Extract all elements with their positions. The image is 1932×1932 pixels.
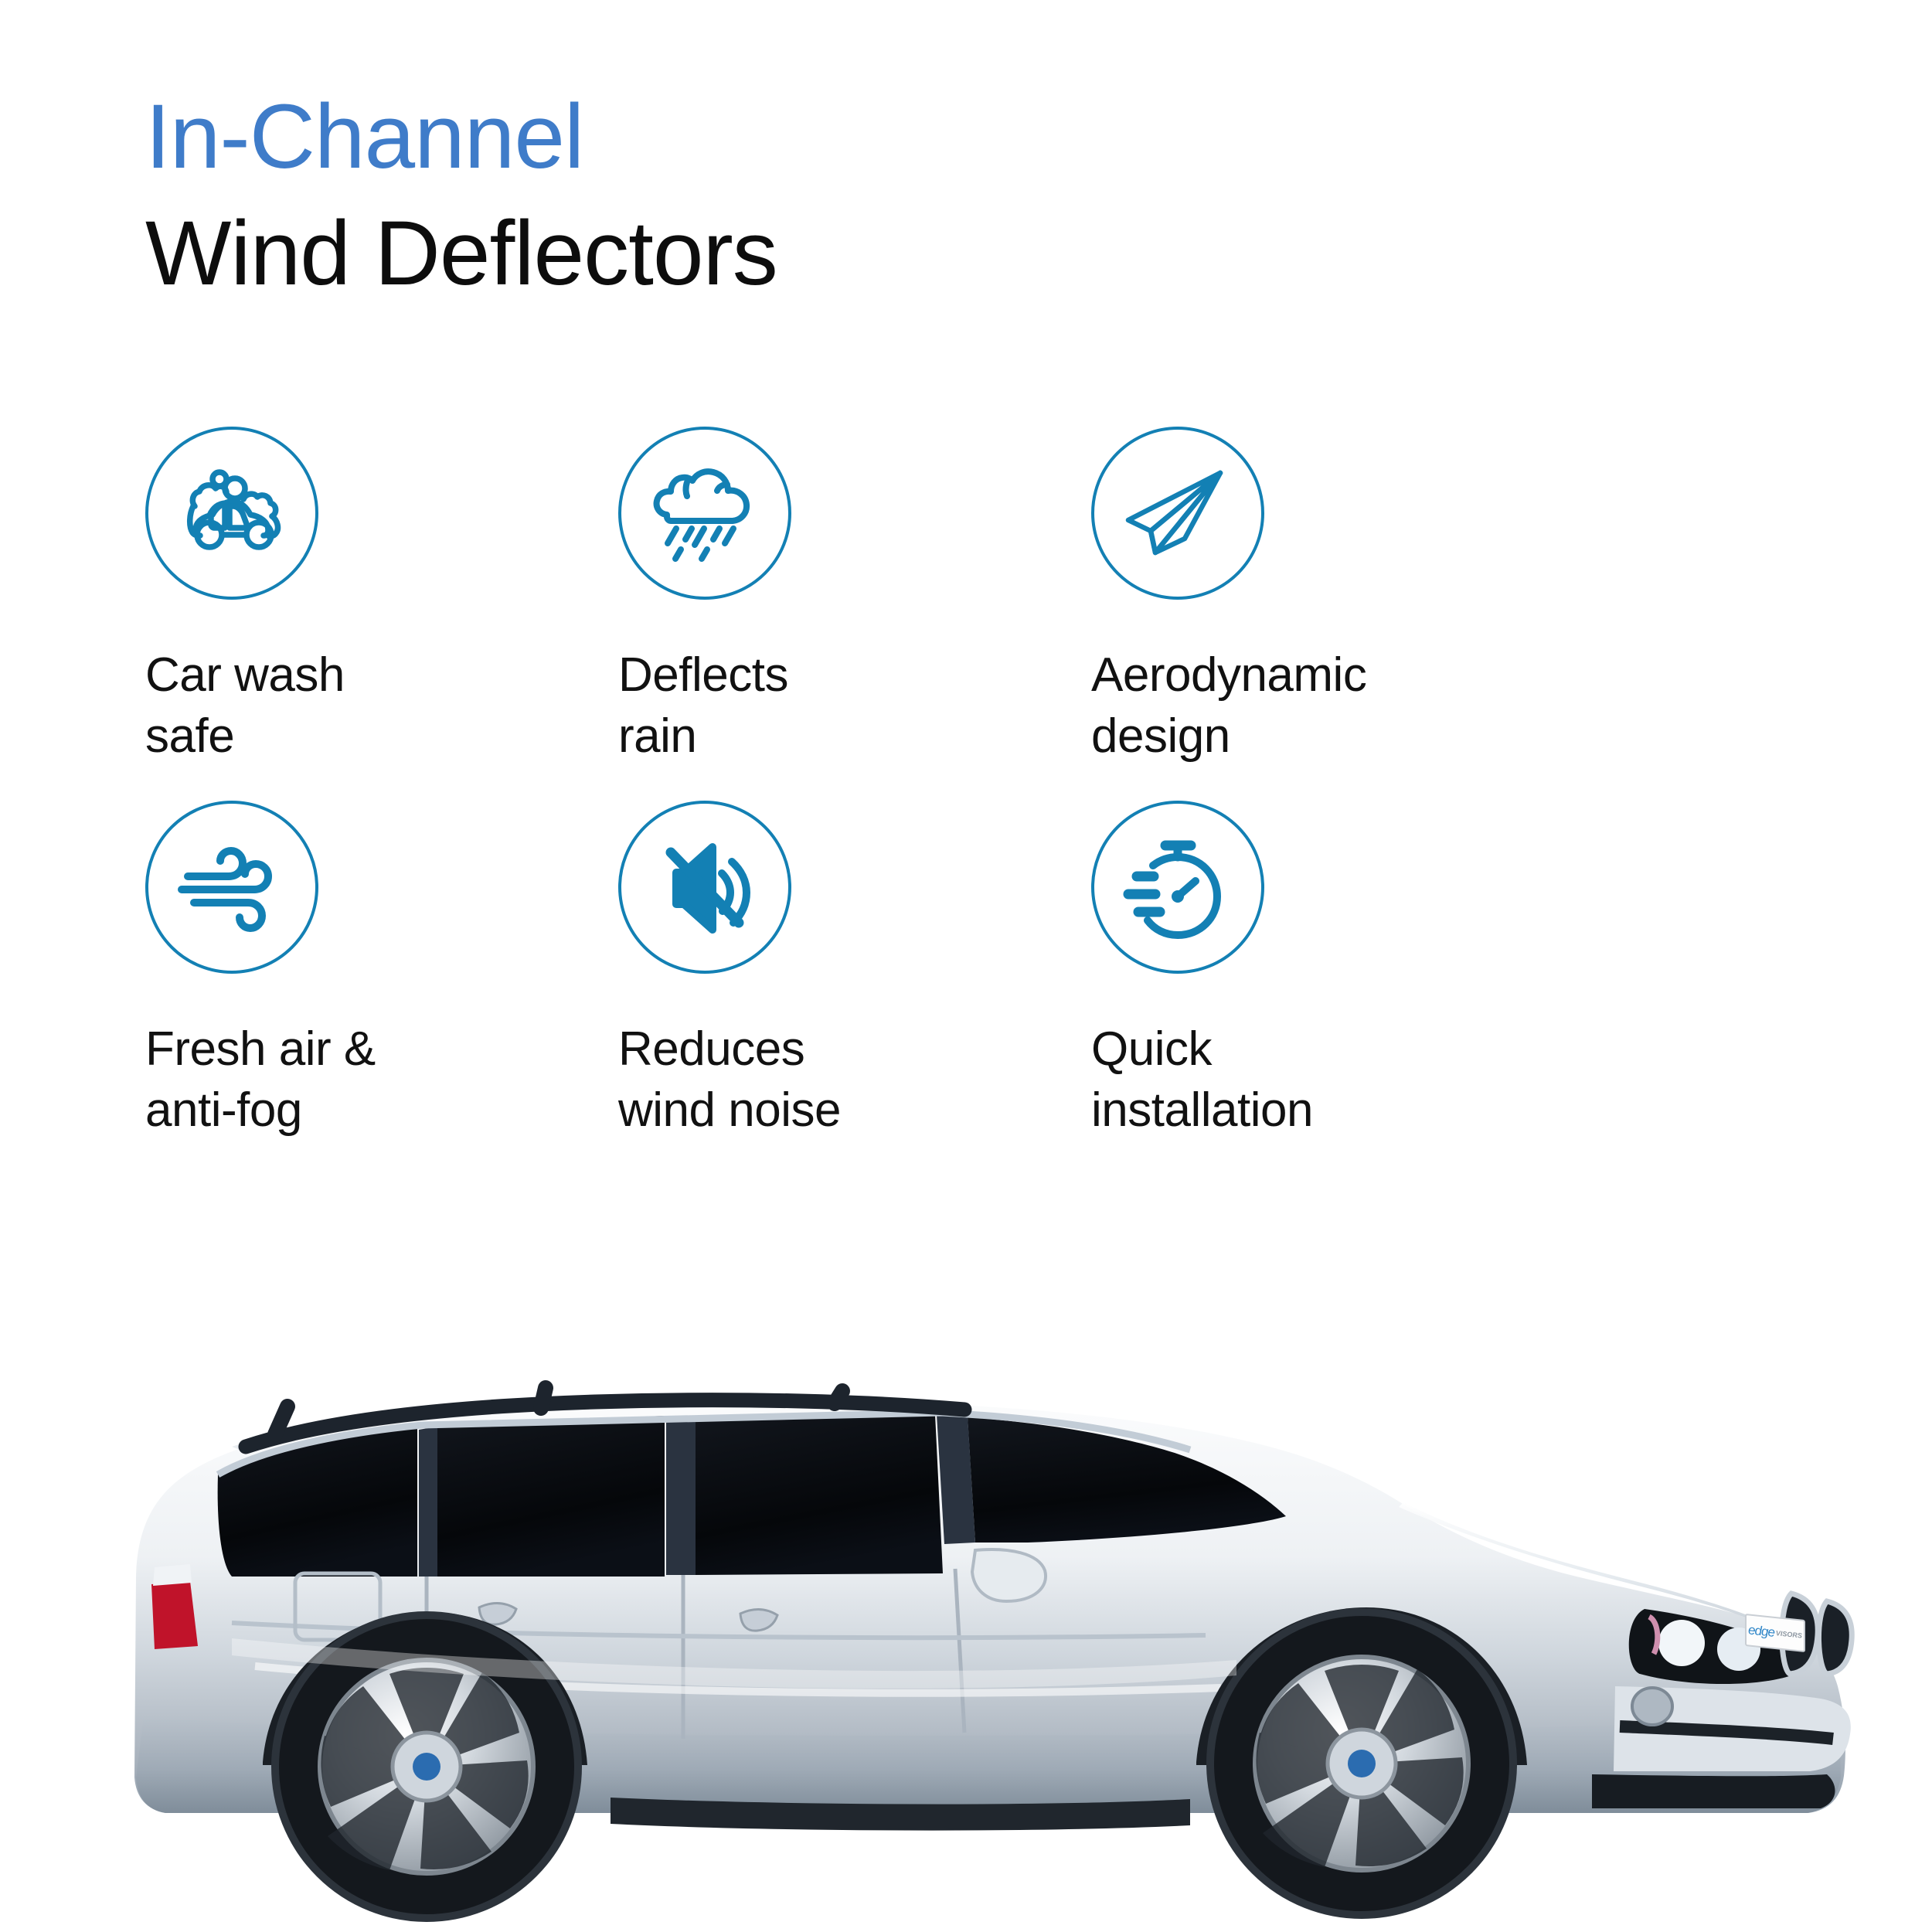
headline-line-2: Wind Deflectors bbox=[145, 202, 1382, 306]
feature-label: Car wash safe bbox=[145, 645, 618, 767]
headline-block: In-Channel Wind Deflectors bbox=[145, 85, 1382, 305]
roof-rail-foot-mid bbox=[541, 1388, 546, 1408]
feature-label: Reduces wind noise bbox=[618, 1019, 1091, 1141]
rain-cloud-icon bbox=[618, 427, 791, 600]
feature-grid: Car wash safe Deflects rain bbox=[145, 427, 1475, 1175]
rear-hub-badge bbox=[413, 1753, 440, 1781]
feature-fresh-air-anti-fog: Fresh air & anti-fog bbox=[145, 801, 618, 1175]
taillight bbox=[151, 1581, 198, 1649]
feature-deflects-rain: Deflects rain bbox=[618, 427, 1091, 801]
headline-line-1: In-Channel bbox=[145, 85, 1382, 189]
headlight-inner-low bbox=[1658, 1620, 1705, 1666]
license-plate: edge VISORS bbox=[1745, 1614, 1805, 1652]
feature-label: Deflects rain bbox=[618, 645, 1091, 767]
front-hub-badge bbox=[1348, 1750, 1376, 1777]
front-air-dam bbox=[1592, 1774, 1835, 1808]
stopwatch-speed-icon bbox=[1091, 801, 1264, 974]
plate-brand-sub: VISORS bbox=[1776, 1629, 1802, 1640]
rear-door-glass bbox=[437, 1416, 665, 1577]
product-feature-graphic: In-Channel Wind Deflectors bbox=[0, 0, 1932, 1932]
feature-label: Quick installation bbox=[1091, 1019, 1475, 1141]
feature-reduces-wind-noise: Reduces wind noise bbox=[618, 801, 1091, 1175]
b-pillar-rear bbox=[419, 1427, 437, 1577]
feature-car-wash-safe: Car wash safe bbox=[145, 427, 618, 801]
fog-light bbox=[1632, 1688, 1672, 1725]
feature-quick-installation: Quick installation bbox=[1091, 801, 1475, 1175]
side-mirror bbox=[972, 1549, 1046, 1601]
taillight-clear bbox=[153, 1564, 192, 1586]
suv-illustration bbox=[0, 1175, 1932, 1932]
grille-right-kidney bbox=[1818, 1601, 1852, 1674]
feature-label: Aerodynamic design bbox=[1091, 645, 1475, 767]
plate-brand: edge bbox=[1748, 1622, 1774, 1641]
paper-plane-icon bbox=[1091, 427, 1264, 600]
car-wash-icon bbox=[145, 427, 318, 600]
b-pillar-front bbox=[666, 1416, 696, 1575]
vehicle-image: edge VISORS edge VISORS bbox=[0, 1175, 1932, 1932]
feature-label: Fresh air & anti-fog bbox=[145, 1019, 618, 1141]
roof-rail-foot-front bbox=[835, 1391, 842, 1403]
front-door-glass bbox=[696, 1414, 943, 1575]
mute-speaker-icon bbox=[618, 801, 791, 974]
wind-icon bbox=[145, 801, 318, 974]
feature-aerodynamic-design: Aerodynamic design bbox=[1091, 427, 1475, 801]
